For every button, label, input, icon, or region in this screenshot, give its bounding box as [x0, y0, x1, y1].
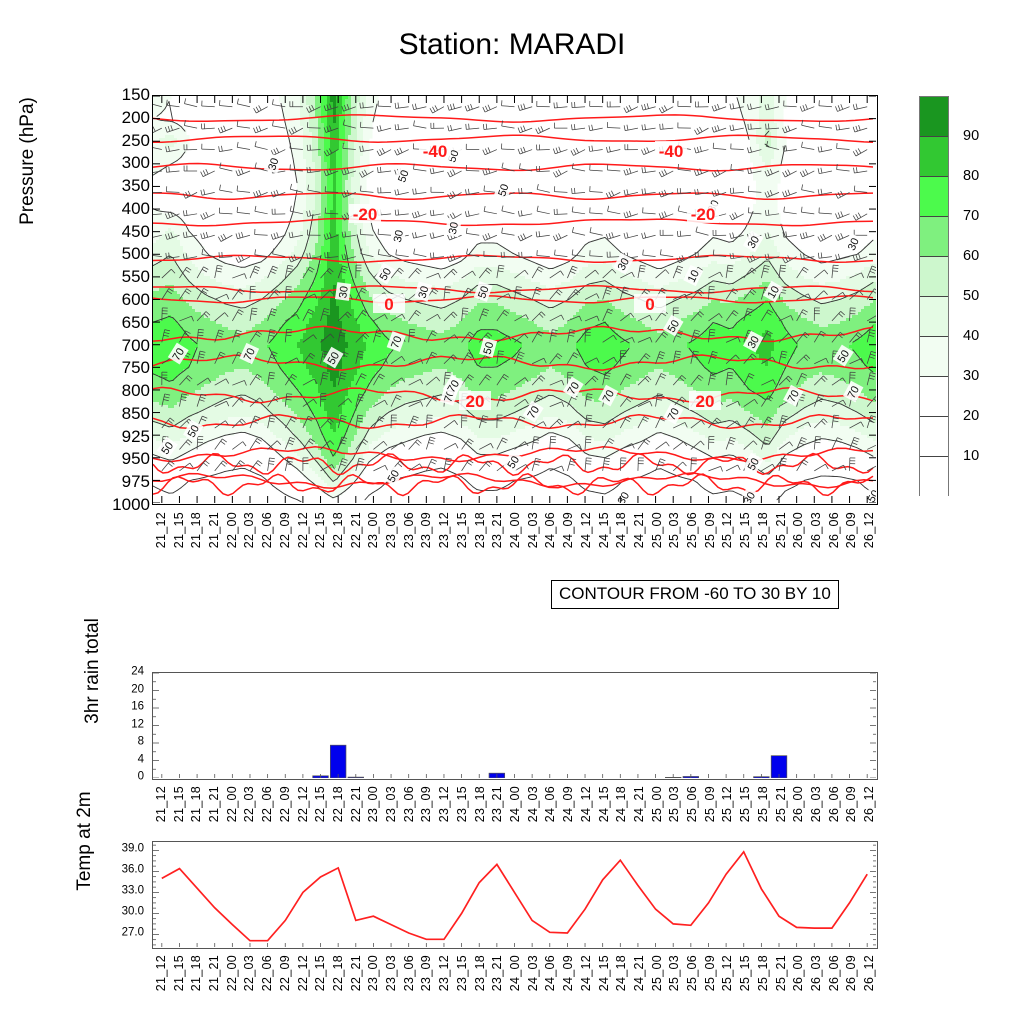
x-tick-label: 24_03 — [526, 512, 540, 548]
colorbar-tick-label: 80 — [963, 168, 979, 184]
x-tick-label: 22_06 — [260, 512, 274, 548]
x-tick-label: 25_21 — [774, 786, 788, 822]
main-y-tick: 750 — [90, 359, 150, 376]
x-tick-label: 26_09 — [844, 512, 858, 548]
x-tick-label: 24_03 — [526, 786, 540, 822]
main-y-axis-label: Pressure (hPa) — [17, 61, 39, 261]
x-tick-label: 22_12 — [296, 512, 310, 548]
rain-y-tick: 0 — [96, 771, 144, 783]
x-tick-label: 24_15 — [597, 955, 611, 991]
x-tick-label: 22_12 — [296, 955, 310, 991]
x-tick-label: 24_12 — [579, 786, 593, 822]
x-tick-label: 26_06 — [827, 786, 841, 822]
x-tick-label: 26_09 — [844, 955, 858, 991]
temp-y-tick: 27.0 — [86, 928, 144, 940]
weather-cross-section-page: Station: MARADI Pressure (hPa) 150200250… — [0, 0, 1024, 1024]
x-tick-label: 21_15 — [172, 955, 186, 991]
x-tick-label: 22_00 — [225, 955, 239, 991]
x-tick-label: 23_21 — [490, 955, 504, 991]
x-tick-label: 25_06 — [685, 786, 699, 822]
main-y-tick: 500 — [90, 245, 150, 262]
x-tick-label: 26_09 — [844, 786, 858, 822]
x-tick-label: 23_18 — [473, 955, 487, 991]
colorbar-tick-label: 10 — [963, 448, 979, 464]
x-tick-label: 22_18 — [331, 786, 345, 822]
main-y-tick: 700 — [90, 337, 150, 354]
colorbar-tick-label: 60 — [963, 248, 979, 264]
x-tick-label: 26_12 — [862, 786, 876, 822]
x-tick-label: 25_00 — [650, 955, 664, 991]
x-tick-label: 23_18 — [473, 512, 487, 548]
x-tick-label: 24_00 — [508, 786, 522, 822]
x-tick-label: 21_12 — [154, 512, 168, 548]
x-tick-label: 25_03 — [667, 512, 681, 548]
x-tick-label: 25_00 — [650, 786, 664, 822]
x-tick-label: 26_03 — [809, 955, 823, 991]
main-y-tick: 350 — [90, 177, 150, 194]
x-tick-label: 22_03 — [242, 512, 256, 548]
colorbar-band — [920, 297, 948, 337]
temp-line-svg — [153, 842, 876, 947]
x-tick-label: 22_06 — [260, 786, 274, 822]
x-tick-label: 24_09 — [561, 955, 575, 991]
x-tick-label: 24_06 — [543, 512, 557, 548]
x-tick-label: 23_03 — [384, 955, 398, 991]
x-tick-label: 22_21 — [349, 786, 363, 822]
x-tick-label: 24_06 — [543, 955, 557, 991]
temperature-line-chart[interactable] — [152, 841, 878, 949]
main-y-tick: 925 — [90, 428, 150, 445]
x-tick-label: 22_15 — [313, 512, 327, 548]
main-y-tick: 850 — [90, 405, 150, 422]
x-tick-label: 25_09 — [703, 512, 717, 548]
x-tick-label: 26_03 — [809, 786, 823, 822]
x-tick-label: 24_09 — [561, 512, 575, 548]
rain-y-tick: 8 — [96, 736, 144, 748]
colorbar-tick-label: 50 — [963, 288, 979, 304]
x-tick-label: 24_03 — [526, 955, 540, 991]
x-tick-label: 26_06 — [827, 955, 841, 991]
x-tick-label: 23_09 — [419, 955, 433, 991]
colorbar-band — [920, 417, 948, 457]
x-tick-label: 23_15 — [455, 512, 469, 548]
temp-y-tick: 30.0 — [86, 907, 144, 919]
rain-bar-chart[interactable] — [152, 672, 878, 780]
x-tick-label: 22_21 — [349, 512, 363, 548]
x-tick-label: 21_15 — [172, 786, 186, 822]
x-tick-label: 26_03 — [809, 512, 823, 548]
x-tick-label: 26_00 — [791, 786, 805, 822]
page-title: Station: MARADI — [0, 28, 1024, 62]
x-tick-label: 25_18 — [756, 786, 770, 822]
x-tick-label: 21_21 — [207, 955, 221, 991]
x-tick-label: 24_18 — [614, 512, 628, 548]
x-tick-label: 22_18 — [331, 955, 345, 991]
cross-section-plot[interactable]: 3030505050707050705050303050305070707070… — [152, 95, 878, 505]
temp-ticks — [153, 845, 876, 947]
x-tick-label: 22_18 — [331, 512, 345, 548]
rain-bar — [330, 745, 346, 778]
x-tick-label: 23_03 — [384, 512, 398, 548]
x-tick-label: 23_12 — [437, 955, 451, 991]
x-tick-label: 23_00 — [366, 786, 380, 822]
x-tick-label: 21_12 — [154, 955, 168, 991]
main-y-tick: 150 — [90, 86, 150, 103]
colorbar-tick-label: 40 — [963, 328, 979, 344]
x-tick-label: 24_12 — [579, 955, 593, 991]
x-tick-label: 22_12 — [296, 786, 310, 822]
x-tick-label: 22_15 — [313, 955, 327, 991]
x-tick-label: 21_18 — [189, 512, 203, 548]
x-tick-label: 24_00 — [508, 955, 522, 991]
x-tick-label: 21_18 — [189, 786, 203, 822]
x-tick-label: 23_00 — [366, 512, 380, 548]
cross-section-svg: 3030505050707050705050303050305070707070… — [153, 96, 876, 503]
x-tick-label: 22_00 — [225, 512, 239, 548]
x-tick-label: 22_06 — [260, 955, 274, 991]
main-y-tick: 550 — [90, 268, 150, 285]
x-tick-label: 23_21 — [490, 786, 504, 822]
temp-y-tick: 39.0 — [86, 844, 144, 856]
x-tick-label: 24_18 — [614, 786, 628, 822]
main-y-tick: 250 — [90, 132, 150, 149]
x-tick-label: 25_09 — [703, 955, 717, 991]
x-tick-label: 24_12 — [579, 512, 593, 548]
x-tick-label: 21_18 — [189, 955, 203, 991]
x-tick-label: 24_15 — [597, 512, 611, 548]
rain-y-tick: 16 — [96, 701, 144, 713]
colorbar-band — [920, 137, 948, 177]
x-tick-label: 21_15 — [172, 512, 186, 548]
x-tick-label: 24_21 — [632, 512, 646, 548]
x-tick-label: 25_15 — [738, 786, 752, 822]
x-tick-label: 21_12 — [154, 786, 168, 822]
x-tick-label: 23_15 — [455, 786, 469, 822]
humidity-colorbar[interactable] — [919, 96, 949, 496]
x-tick-label: 25_21 — [774, 955, 788, 991]
rain-bars — [313, 745, 787, 778]
rain-y-tick: 4 — [96, 754, 144, 766]
x-tick-label: 25_12 — [720, 512, 734, 548]
colorbar-band — [920, 457, 948, 497]
x-tick-label: 22_09 — [278, 512, 292, 548]
x-tick-label: 22_00 — [225, 786, 239, 822]
colorbar-band — [920, 177, 948, 217]
rain-ticks — [153, 673, 876, 778]
x-tick-label: 23_18 — [473, 786, 487, 822]
x-tick-label: 22_15 — [313, 786, 327, 822]
x-tick-label: 26_00 — [791, 955, 805, 991]
x-tick-label: 23_15 — [455, 955, 469, 991]
x-tick-label: 24_18 — [614, 955, 628, 991]
colorbar-band — [920, 217, 948, 257]
x-tick-label: 25_06 — [685, 955, 699, 991]
temperature-line — [162, 852, 867, 941]
colorbar-band — [920, 97, 948, 137]
x-tick-label: 25_09 — [703, 786, 717, 822]
x-tick-label: 22_09 — [278, 786, 292, 822]
x-tick-label: 26_00 — [791, 512, 805, 548]
main-y-tick: 975 — [90, 473, 150, 490]
x-tick-label: 23_12 — [437, 786, 451, 822]
main-y-tick: 950 — [90, 450, 150, 467]
x-tick-label: 23_06 — [402, 786, 416, 822]
rain-y-tick: 12 — [96, 719, 144, 731]
x-tick-label: 24_15 — [597, 786, 611, 822]
x-tick-label: 23_06 — [402, 955, 416, 991]
x-tick-label: 22_21 — [349, 955, 363, 991]
x-tick-label: 24_21 — [632, 955, 646, 991]
x-tick-label: 25_12 — [720, 786, 734, 822]
colorbar-tick-label: 20 — [963, 408, 979, 424]
x-tick-label: 21_21 — [207, 786, 221, 822]
x-tick-label: 22_09 — [278, 955, 292, 991]
x-tick-label: 23_12 — [437, 512, 451, 548]
rain-bars-svg — [153, 673, 876, 778]
main-y-tick: 800 — [90, 382, 150, 399]
x-tick-label: 23_21 — [490, 512, 504, 548]
x-tick-label: 25_15 — [738, 512, 752, 548]
x-tick-label: 22_03 — [242, 786, 256, 822]
x-tick-label: 24_09 — [561, 786, 575, 822]
main-y-tick: 400 — [90, 200, 150, 217]
x-tick-label: 23_00 — [366, 955, 380, 991]
rain-y-tick: 20 — [96, 684, 144, 696]
contour-range-note: CONTOUR FROM -60 TO 30 BY 10 — [551, 580, 839, 609]
main-y-tick: 1000 — [90, 496, 150, 513]
x-tick-label: 25_18 — [756, 512, 770, 548]
main-y-tick: 600 — [90, 291, 150, 308]
x-tick-label: 25_18 — [756, 955, 770, 991]
x-tick-label: 26_12 — [862, 955, 876, 991]
x-tick-label: 25_21 — [774, 512, 788, 548]
colorbar-band — [920, 337, 948, 377]
temp-y-axis-label: Temp at 2m — [74, 726, 96, 956]
main-y-tick: 650 — [90, 314, 150, 331]
x-tick-label: 24_21 — [632, 786, 646, 822]
main-y-tick: 200 — [90, 109, 150, 126]
colorbar-tick-label: 30 — [963, 368, 979, 384]
x-tick-label: 23_09 — [419, 786, 433, 822]
main-y-tick: 450 — [90, 223, 150, 240]
x-tick-label: 21_21 — [207, 512, 221, 548]
x-tick-label: 25_15 — [738, 955, 752, 991]
x-tick-label: 25_03 — [667, 955, 681, 991]
x-tick-label: 22_03 — [242, 955, 256, 991]
main-y-tick: 300 — [90, 154, 150, 171]
x-tick-label: 23_03 — [384, 786, 398, 822]
x-tick-label: 24_06 — [543, 786, 557, 822]
colorbar-band — [920, 257, 948, 297]
colorbar-tick-label: 90 — [963, 128, 979, 144]
x-tick-label: 25_03 — [667, 786, 681, 822]
x-tick-label: 25_12 — [720, 955, 734, 991]
colorbar-band — [920, 377, 948, 417]
temp-y-tick: 36.0 — [86, 865, 144, 877]
x-tick-label: 26_06 — [827, 512, 841, 548]
x-tick-label: 26_12 — [862, 512, 876, 548]
x-tick-label: 24_00 — [508, 512, 522, 548]
rain-y-tick: 24 — [96, 666, 144, 678]
x-tick-label: 23_09 — [419, 512, 433, 548]
x-tick-label: 23_06 — [402, 512, 416, 548]
temp-y-tick: 33.0 — [86, 886, 144, 898]
x-tick-label: 25_06 — [685, 512, 699, 548]
x-tick-label: 25_00 — [650, 512, 664, 548]
colorbar-tick-label: 70 — [963, 208, 979, 224]
